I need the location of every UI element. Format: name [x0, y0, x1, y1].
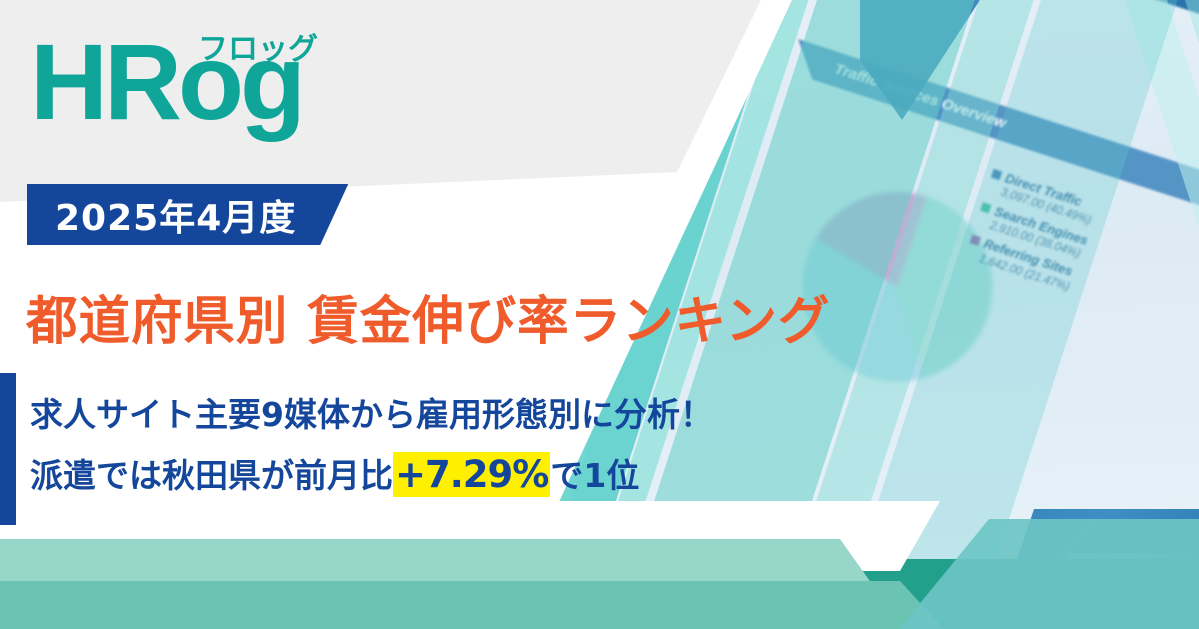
hrog-ranking-banner: 3.32 Pages/Visit 21.37% ▾ Traffic Source… — [0, 0, 1199, 629]
subtitle-block: 求人サイト主要9媒体から雇用形態別に分析！ 派遣では秋田県が前月比+7.29%で… — [30, 385, 713, 506]
subtitle-line-2-prefix: 派遣では秋田県が前月比 — [30, 456, 393, 495]
subtitle-line-2-suffix: で1位 — [550, 456, 639, 495]
date-badge: 2025年4月度 — [27, 184, 348, 245]
accent-bar — [0, 373, 16, 525]
hrog-logo[interactable]: HRog フロッグ — [30, 18, 330, 148]
date-badge-label: 2025年4月度 — [55, 189, 296, 241]
page-title: 都道府県別 賃金伸び率ランキング — [26, 279, 830, 354]
subtitle-line-2: 派遣では秋田県が前月比+7.29%で1位 — [30, 445, 713, 506]
banner-content: HRog フロッグ 2025年4月度 都道府県別 賃金伸び率ランキング 求人サイ… — [0, 0, 1199, 629]
logo-kana-furigana: フロッグ — [198, 24, 318, 68]
subtitle-line-1: 求人サイト主要9媒体から雇用形態別に分析！ — [30, 385, 713, 445]
highlighted-statistic: +7.29% — [393, 452, 550, 497]
